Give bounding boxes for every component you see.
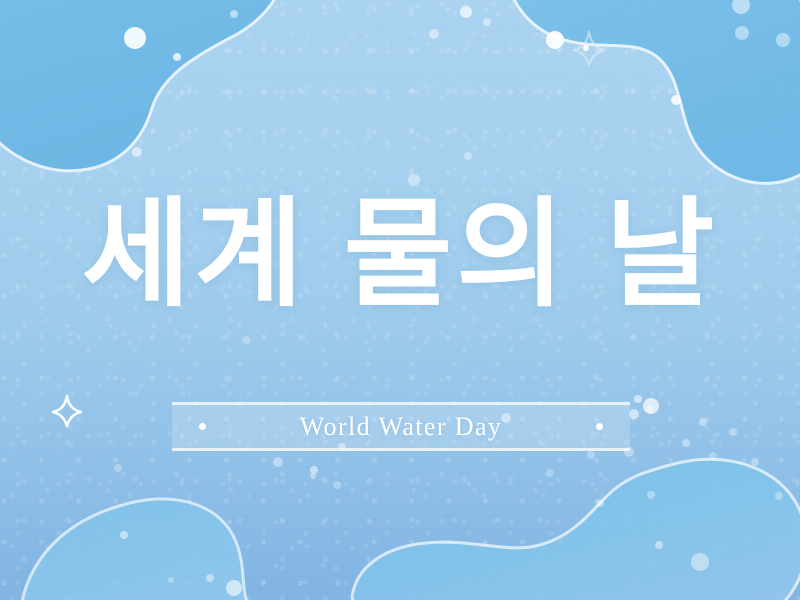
bubble bbox=[310, 473, 316, 479]
bubble bbox=[168, 577, 174, 583]
bubble bbox=[643, 398, 659, 414]
subtitle-label: World Water Day bbox=[300, 412, 503, 442]
bubble bbox=[629, 409, 639, 419]
bubble bbox=[776, 33, 790, 47]
bubble bbox=[333, 481, 341, 489]
blob-bottom-left bbox=[30, 498, 360, 600]
page-title: 세계 물의 날 bbox=[0, 196, 800, 314]
bubble bbox=[460, 6, 472, 18]
bubble bbox=[173, 53, 181, 61]
bubble bbox=[310, 466, 318, 474]
bubble bbox=[729, 428, 737, 436]
bubble bbox=[546, 469, 554, 477]
bubble bbox=[429, 29, 439, 39]
sparkle-star-icon bbox=[570, 28, 608, 68]
blob-top-left bbox=[0, 0, 350, 210]
bubble bbox=[583, 45, 589, 51]
bubble bbox=[682, 439, 690, 447]
bubble bbox=[709, 452, 717, 460]
bubble bbox=[114, 464, 122, 472]
bubble bbox=[546, 31, 564, 49]
bubble bbox=[655, 541, 663, 549]
bubble bbox=[699, 418, 707, 426]
bubble bbox=[273, 457, 283, 467]
bubble bbox=[647, 491, 655, 499]
subtitle-banner: World Water Day bbox=[172, 402, 630, 451]
bubble bbox=[120, 531, 128, 539]
bubble bbox=[483, 18, 491, 26]
bubble bbox=[751, 458, 759, 466]
bubble bbox=[691, 553, 709, 571]
bubble bbox=[671, 95, 681, 105]
bubble bbox=[775, 492, 783, 500]
blob-bottom-right bbox=[330, 455, 800, 600]
banner-dot-left bbox=[199, 423, 206, 430]
bubble bbox=[732, 0, 750, 14]
bubble bbox=[124, 27, 146, 49]
bubble bbox=[226, 580, 242, 596]
bubble bbox=[230, 10, 238, 18]
bubble bbox=[735, 26, 749, 40]
sparkle-star-icon bbox=[50, 393, 84, 429]
bubble bbox=[132, 147, 142, 157]
bubble bbox=[634, 395, 642, 403]
title-block: 세계 물의 날 bbox=[0, 196, 800, 314]
bubble bbox=[587, 451, 595, 459]
bubble bbox=[242, 336, 250, 344]
banner-dot-right bbox=[596, 423, 603, 430]
bubble bbox=[206, 574, 214, 582]
bubble bbox=[408, 174, 420, 186]
bubble bbox=[596, 499, 604, 507]
poster-canvas: 세계 물의 날 World Water Day bbox=[0, 0, 800, 600]
bubble bbox=[647, 406, 653, 412]
bubble bbox=[464, 152, 472, 160]
